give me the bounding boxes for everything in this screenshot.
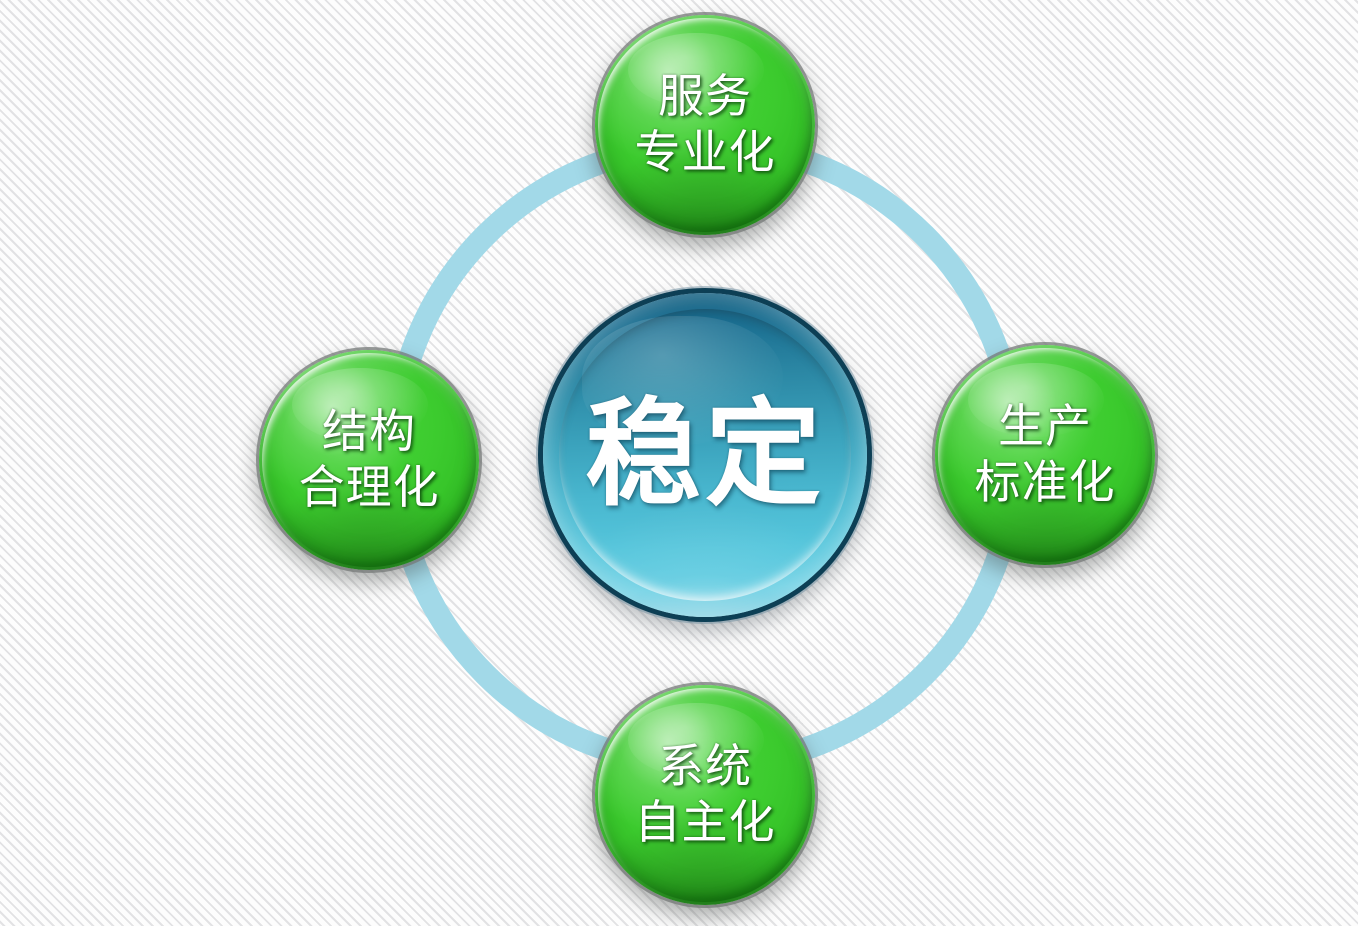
node-top-label-line1: 服务 <box>635 69 776 125</box>
node-right-label-line2: 标准化 <box>975 455 1116 511</box>
center-node-label: 稳定 <box>585 394 825 516</box>
node-left-label-line2: 合理化 <box>299 460 440 516</box>
node-top-label: 服务 专业化 <box>635 69 776 181</box>
node-system-autonomy[interactable]: 系统 自主化 <box>595 685 815 905</box>
node-bottom-label-line1: 系统 <box>635 739 776 795</box>
node-bottom-label-line2: 自主化 <box>635 795 776 851</box>
node-top-label-line2: 专业化 <box>635 125 776 181</box>
node-bottom-label: 系统 自主化 <box>635 739 776 851</box>
node-right-label: 生产 标准化 <box>975 399 1116 511</box>
node-service-specialization[interactable]: 服务 专业化 <box>595 15 815 235</box>
node-left-label: 结构 合理化 <box>299 404 440 516</box>
node-production-standardization[interactable]: 生产 标准化 <box>935 345 1155 565</box>
center-node-stability[interactable]: 稳定 <box>543 293 867 617</box>
node-structure-rationalization[interactable]: 结构 合理化 <box>259 350 479 570</box>
node-right-label-line1: 生产 <box>975 399 1116 455</box>
diagram-canvas: 稳定 服务 专业化 生产 标准化 系统 自主化 结构 合理化 <box>0 0 1358 926</box>
node-left-label-line1: 结构 <box>299 404 440 460</box>
